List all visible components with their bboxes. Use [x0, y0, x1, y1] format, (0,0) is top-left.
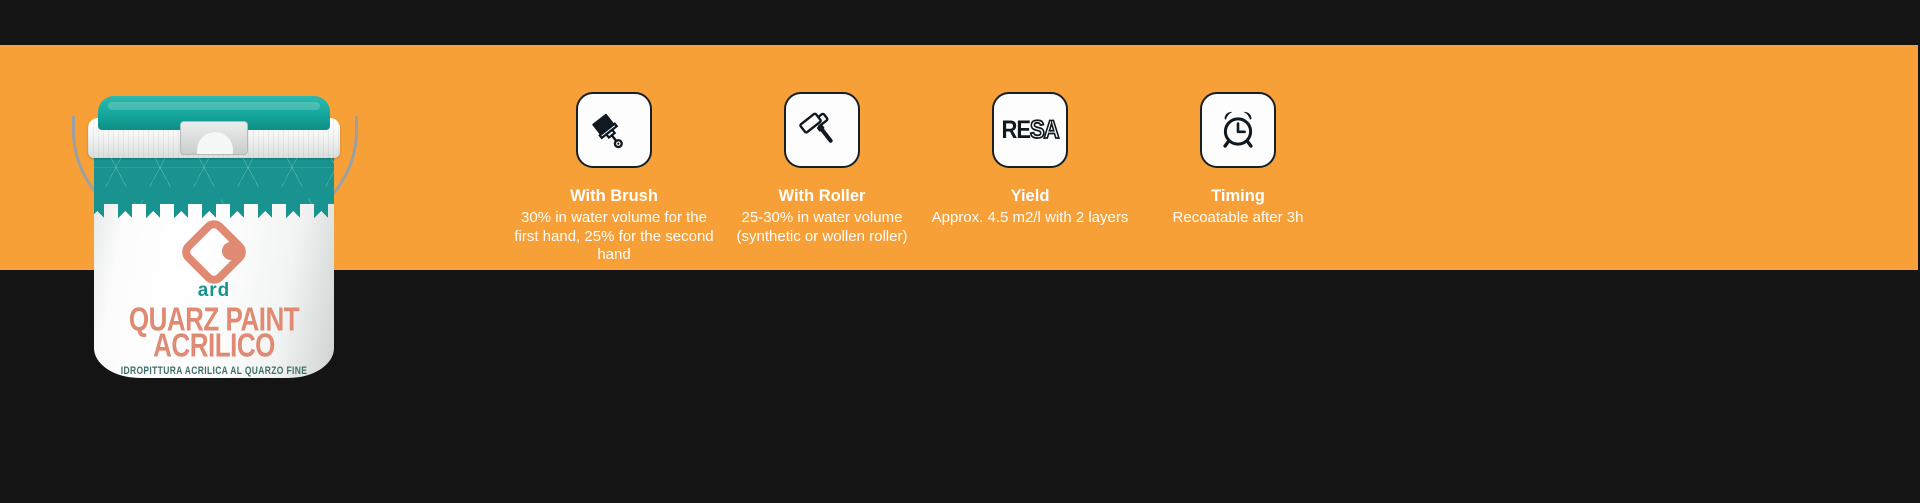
paint-roller-icon [784, 92, 860, 168]
feature-description: 25-30% in water volume (synthetic or wol… [718, 209, 926, 247]
feature-description: 30% in water volume for the first hand, … [510, 209, 718, 265]
product-title-line-2: ACRILICO [94, 326, 334, 366]
alarm-clock-icon [1200, 92, 1276, 168]
feature-list: With Brush 30% in water volume for the f… [510, 92, 1550, 265]
feature-yield: RESA Yield Approx. 4.5 m2/l with 2 layer… [926, 92, 1134, 228]
feature-title: Timing [1211, 187, 1265, 206]
feature-description: Recoatable after 3h [1171, 209, 1306, 228]
feature-description: Approx. 4.5 m2/l with 2 layers [930, 209, 1131, 228]
feature-title: With Brush [570, 187, 658, 206]
ard-logo-dot-icon [222, 242, 240, 260]
feature-title: With Roller [779, 187, 866, 206]
feature-with-roller: With Roller 25-30% in water volume (synt… [718, 92, 926, 246]
ard-brand-name: ard [94, 280, 334, 302]
bucket-body: ard QUARZ PAINT ACRILICO IDROPITTURA ACR… [94, 130, 334, 378]
feature-title: Yield [1011, 187, 1050, 206]
bucket-clip [180, 121, 248, 155]
product-feature-banner: ard QUARZ PAINT ACRILICO IDROPITTURA ACR… [0, 0, 1920, 503]
resa-wordmark: RESA [1001, 115, 1058, 144]
product-image-paint-bucket: ard QUARZ PAINT ACRILICO IDROPITTURA ACR… [68, 78, 362, 378]
feature-timing: Timing Recoatable after 3h [1134, 92, 1342, 228]
paint-brush-icon [576, 92, 652, 168]
resa-hollow-text: SA [1030, 115, 1059, 143]
feature-with-brush: With Brush 30% in water volume for the f… [510, 92, 718, 265]
resa-yield-icon: RESA [992, 92, 1068, 168]
resa-solid-text: RE [1001, 115, 1030, 143]
product-subtitle: IDROPITTURA ACRILICA AL QUARZO FINE [94, 364, 334, 377]
